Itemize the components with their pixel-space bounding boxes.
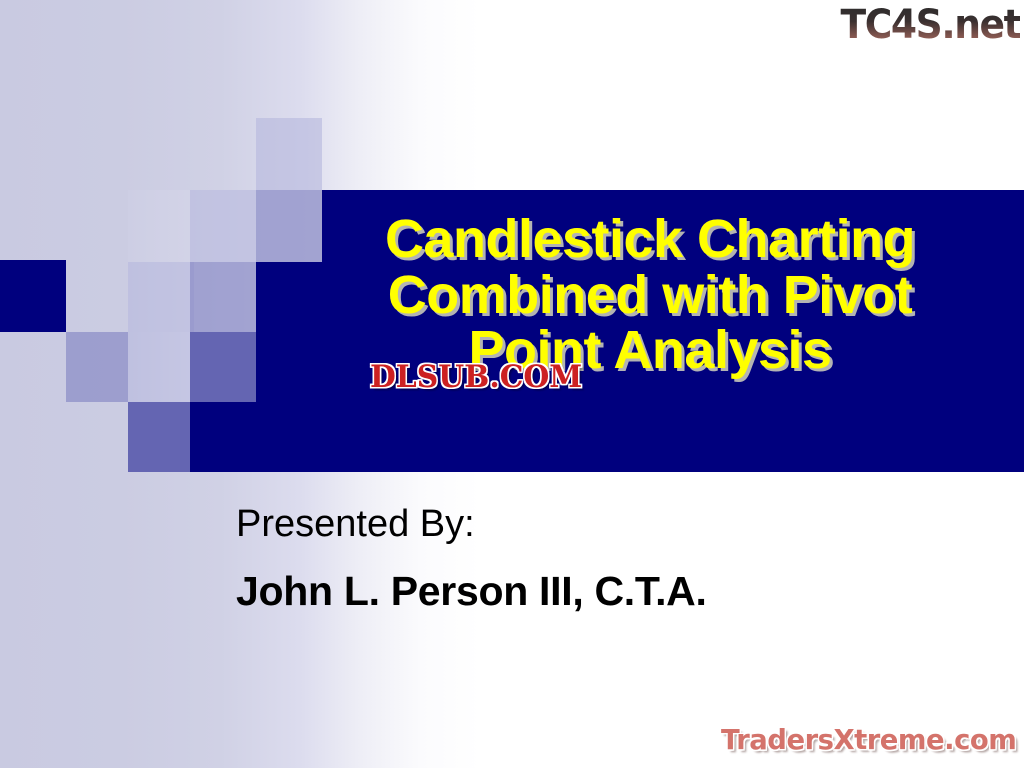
block-light-d	[128, 332, 190, 402]
title-line-1: Candlestick Charting	[330, 212, 970, 268]
block-mid-e	[128, 402, 190, 472]
slide-title: Candlestick Charting Combined with Pivot…	[330, 212, 970, 379]
author-name: John L. Person III, C.T.A.	[236, 571, 707, 612]
watermark-dlsub: DLSUB.COM	[370, 359, 582, 395]
block-light-c	[128, 262, 194, 332]
block-mid-c	[66, 332, 128, 402]
title-line-2: Combined with Pivot	[330, 268, 970, 324]
watermark-tradersxtreme: TradersXtreme.com	[721, 723, 1016, 756]
block-light-b	[190, 190, 256, 262]
block-mid-d	[190, 332, 256, 402]
block-mid-a	[256, 190, 322, 262]
block-light-a	[256, 118, 322, 190]
block-navy-left	[0, 260, 66, 332]
watermark-tc4s: TC4S.net	[840, 2, 1020, 48]
presented-by-label: Presented By:	[236, 505, 707, 543]
block-mid-b	[190, 262, 256, 332]
slide-subtitle: Presented By: John L. Person III, C.T.A.	[236, 505, 707, 612]
presentation-slide: Candlestick Charting Combined with Pivot…	[0, 0, 1024, 768]
